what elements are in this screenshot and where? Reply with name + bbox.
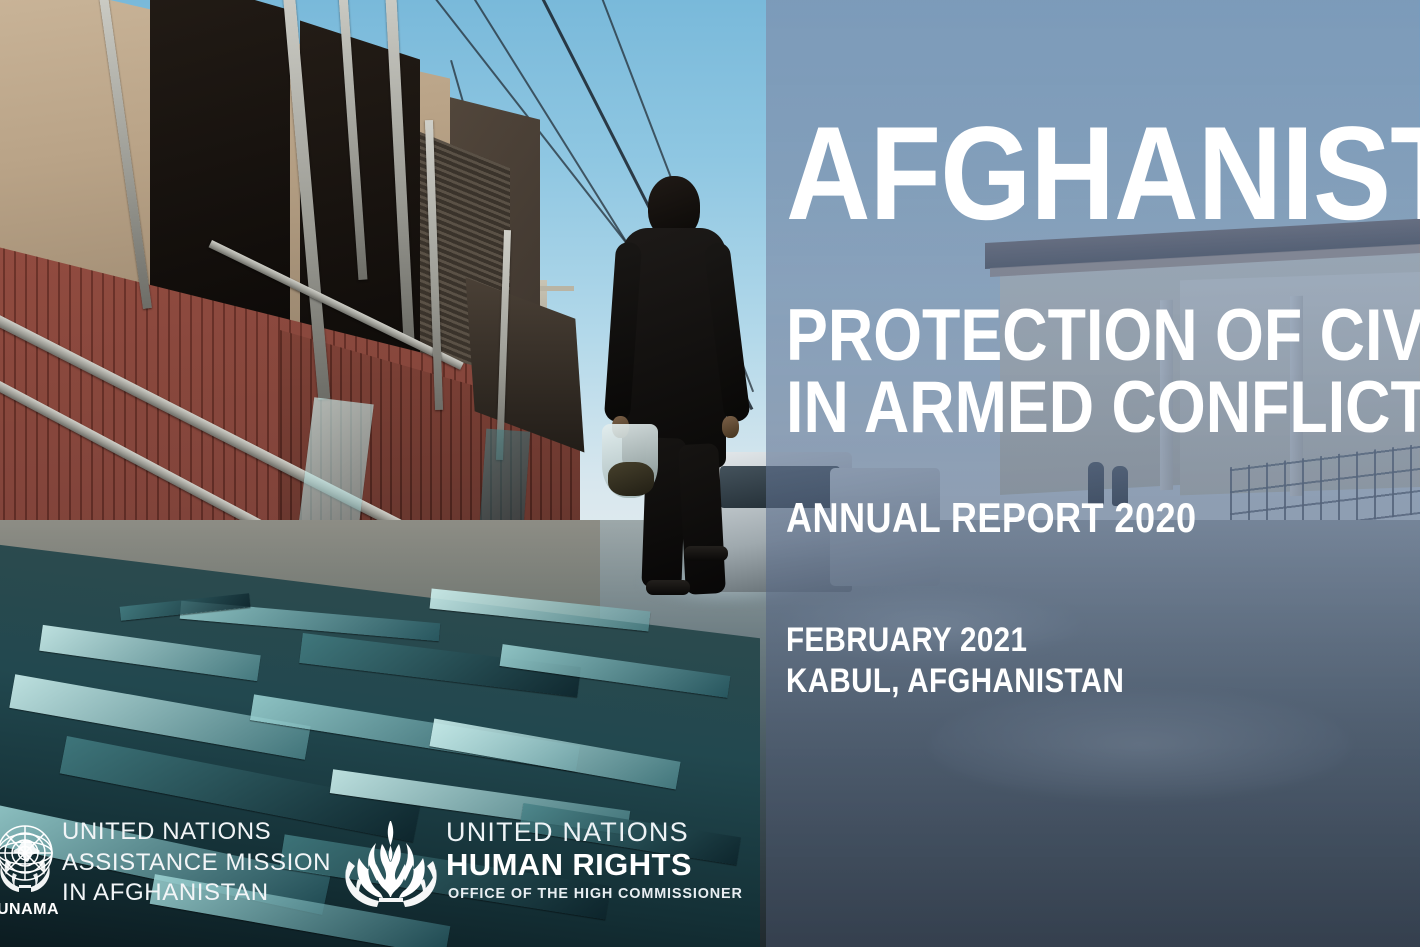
unama-logo: UNAMA UNITED NATIONS ASSISTANCE MISSION … xyxy=(0,811,336,929)
logo-bar: UNAMA UNITED NATIONS ASSISTANCE MISSION … xyxy=(0,797,720,947)
unama-line-1: UNITED NATIONS xyxy=(62,817,331,848)
shop-interior-dark xyxy=(150,0,290,340)
ohchr-line-1: UNITED NATIONS xyxy=(446,817,689,848)
text-overlay-panel xyxy=(766,0,1420,947)
boy-hand-right xyxy=(722,416,739,438)
boy-leg-right xyxy=(678,443,726,595)
ohchr-line-2: HUMAN RIGHTS xyxy=(446,847,692,883)
plastic-bag-contents xyxy=(608,462,654,496)
unama-line-2: ASSISTANCE MISSION xyxy=(62,848,331,879)
un-human-rights-flame-emblem xyxy=(338,813,444,909)
un-globe-laurel-emblem xyxy=(0,811,64,903)
unama-line-3: IN AFGHANISTAN xyxy=(62,878,331,909)
report-cover: AFGHANISTAN PROTECTION OF CIVILIANS IN A… xyxy=(0,0,1420,947)
unama-wordmark: UNITED NATIONS ASSISTANCE MISSION IN AFG… xyxy=(62,817,331,909)
ohchr-line-3: OFFICE OF THE HIGH COMMISSIONER xyxy=(448,885,743,902)
boy-sandal-left xyxy=(646,580,690,595)
unama-acronym: UNAMA xyxy=(0,901,68,919)
boy-sandal-right xyxy=(684,546,728,561)
ohchr-logo: UNITED NATIONS HUMAN RIGHTS OFFICE OF TH… xyxy=(338,813,708,927)
boy-walking xyxy=(596,176,756,596)
